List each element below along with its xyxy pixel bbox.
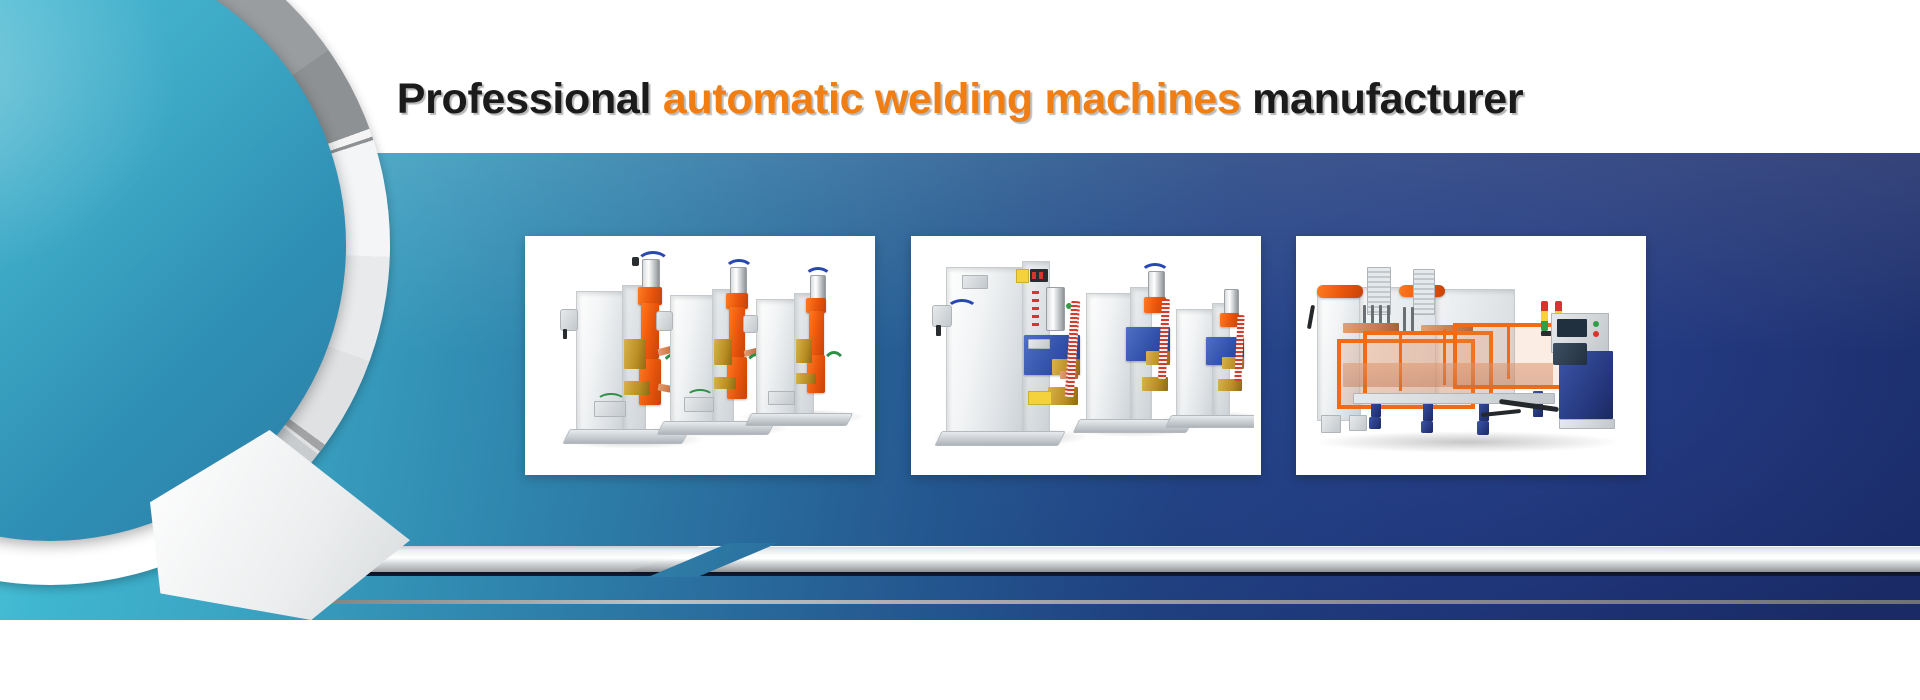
- green-wire-loop: [596, 393, 626, 411]
- orange-transformer-bar: [1317, 285, 1363, 298]
- vent-grill: [962, 275, 988, 289]
- electrode-rod: [1411, 307, 1414, 333]
- air-filter-regulator: [656, 311, 673, 331]
- machine-cabinet: [946, 267, 1024, 435]
- product-card-3[interactable]: Automatic wire mesh welding production l…: [1296, 236, 1646, 475]
- indicator-strip: [1032, 315, 1039, 318]
- indicator-light-red: [1593, 331, 1599, 337]
- machine-base-plate: [745, 413, 853, 426]
- wire-mesh-bed: [1343, 363, 1553, 387]
- operator-console: [1553, 343, 1587, 365]
- indicator-light-green: [1593, 321, 1599, 327]
- machine-shadow: [1313, 431, 1623, 453]
- product-card-2[interactable]: Pneumatic spot welding machines with blu…: [911, 236, 1261, 475]
- product-image-2: [918, 243, 1254, 468]
- welder-arm-lower: [796, 373, 816, 384]
- blue-air-hose: [946, 299, 978, 321]
- solenoid-valve: [632, 257, 639, 266]
- machine-base-plate: [1165, 415, 1254, 428]
- hero-banner: Professional automatic welding machines …: [0, 0, 1920, 700]
- product-card-1[interactable]: Row of three pneumatic spot welding mach…: [525, 236, 875, 475]
- power-cable: [1307, 305, 1315, 329]
- blue-air-hose: [1140, 263, 1170, 285]
- blue-air-hose: [636, 251, 670, 277]
- indicator-light-red: [1032, 272, 1036, 279]
- air-filter-regulator: [560, 309, 578, 331]
- warning-label: [1016, 269, 1029, 283]
- electrode-stack: [1413, 269, 1435, 315]
- machine-foot: [1349, 415, 1367, 431]
- product-image-3: [1303, 243, 1639, 468]
- welder-arm-lower: [714, 377, 736, 389]
- electrode-rod: [1403, 307, 1406, 333]
- green-wire-loop: [686, 389, 714, 406]
- cabinet-base: [1559, 419, 1615, 429]
- blue-air-hose: [724, 259, 754, 283]
- indicator-strip: [1032, 307, 1039, 310]
- adjustable-foot: [1369, 417, 1381, 429]
- indicator-strip: [1032, 323, 1039, 326]
- green-cooling-hose: [822, 351, 846, 383]
- regulator-stem: [936, 325, 941, 336]
- hmi-touchscreen: [1557, 319, 1587, 337]
- welder-arm-upper: [714, 339, 732, 365]
- adjustable-foot: [1477, 421, 1489, 435]
- product-card-list: Row of three pneumatic spot welding mach…: [0, 0, 1920, 700]
- panel-label: [1028, 339, 1050, 349]
- indicator-strip: [1032, 299, 1039, 302]
- welder-arm-upper: [796, 339, 812, 363]
- welder-head-top: [1220, 313, 1239, 327]
- welder-arm-lower: [624, 381, 650, 395]
- product-image-1: [532, 243, 868, 468]
- machine-foot: [1321, 415, 1341, 433]
- pneumatic-cylinder: [1046, 287, 1065, 331]
- signal-tower-light: [1541, 301, 1548, 331]
- adjustable-foot: [1421, 421, 1433, 433]
- blue-air-hose: [804, 267, 832, 289]
- machine-base-plate: [934, 431, 1065, 446]
- terminal-block: [768, 391, 795, 405]
- warning-label: [1028, 391, 1052, 405]
- indicator-strip: [1032, 291, 1039, 294]
- welder-arm-upper: [624, 339, 646, 369]
- indicator-light-red: [1039, 272, 1043, 279]
- air-filter-regulator: [743, 315, 758, 333]
- regulator-stem: [563, 329, 567, 339]
